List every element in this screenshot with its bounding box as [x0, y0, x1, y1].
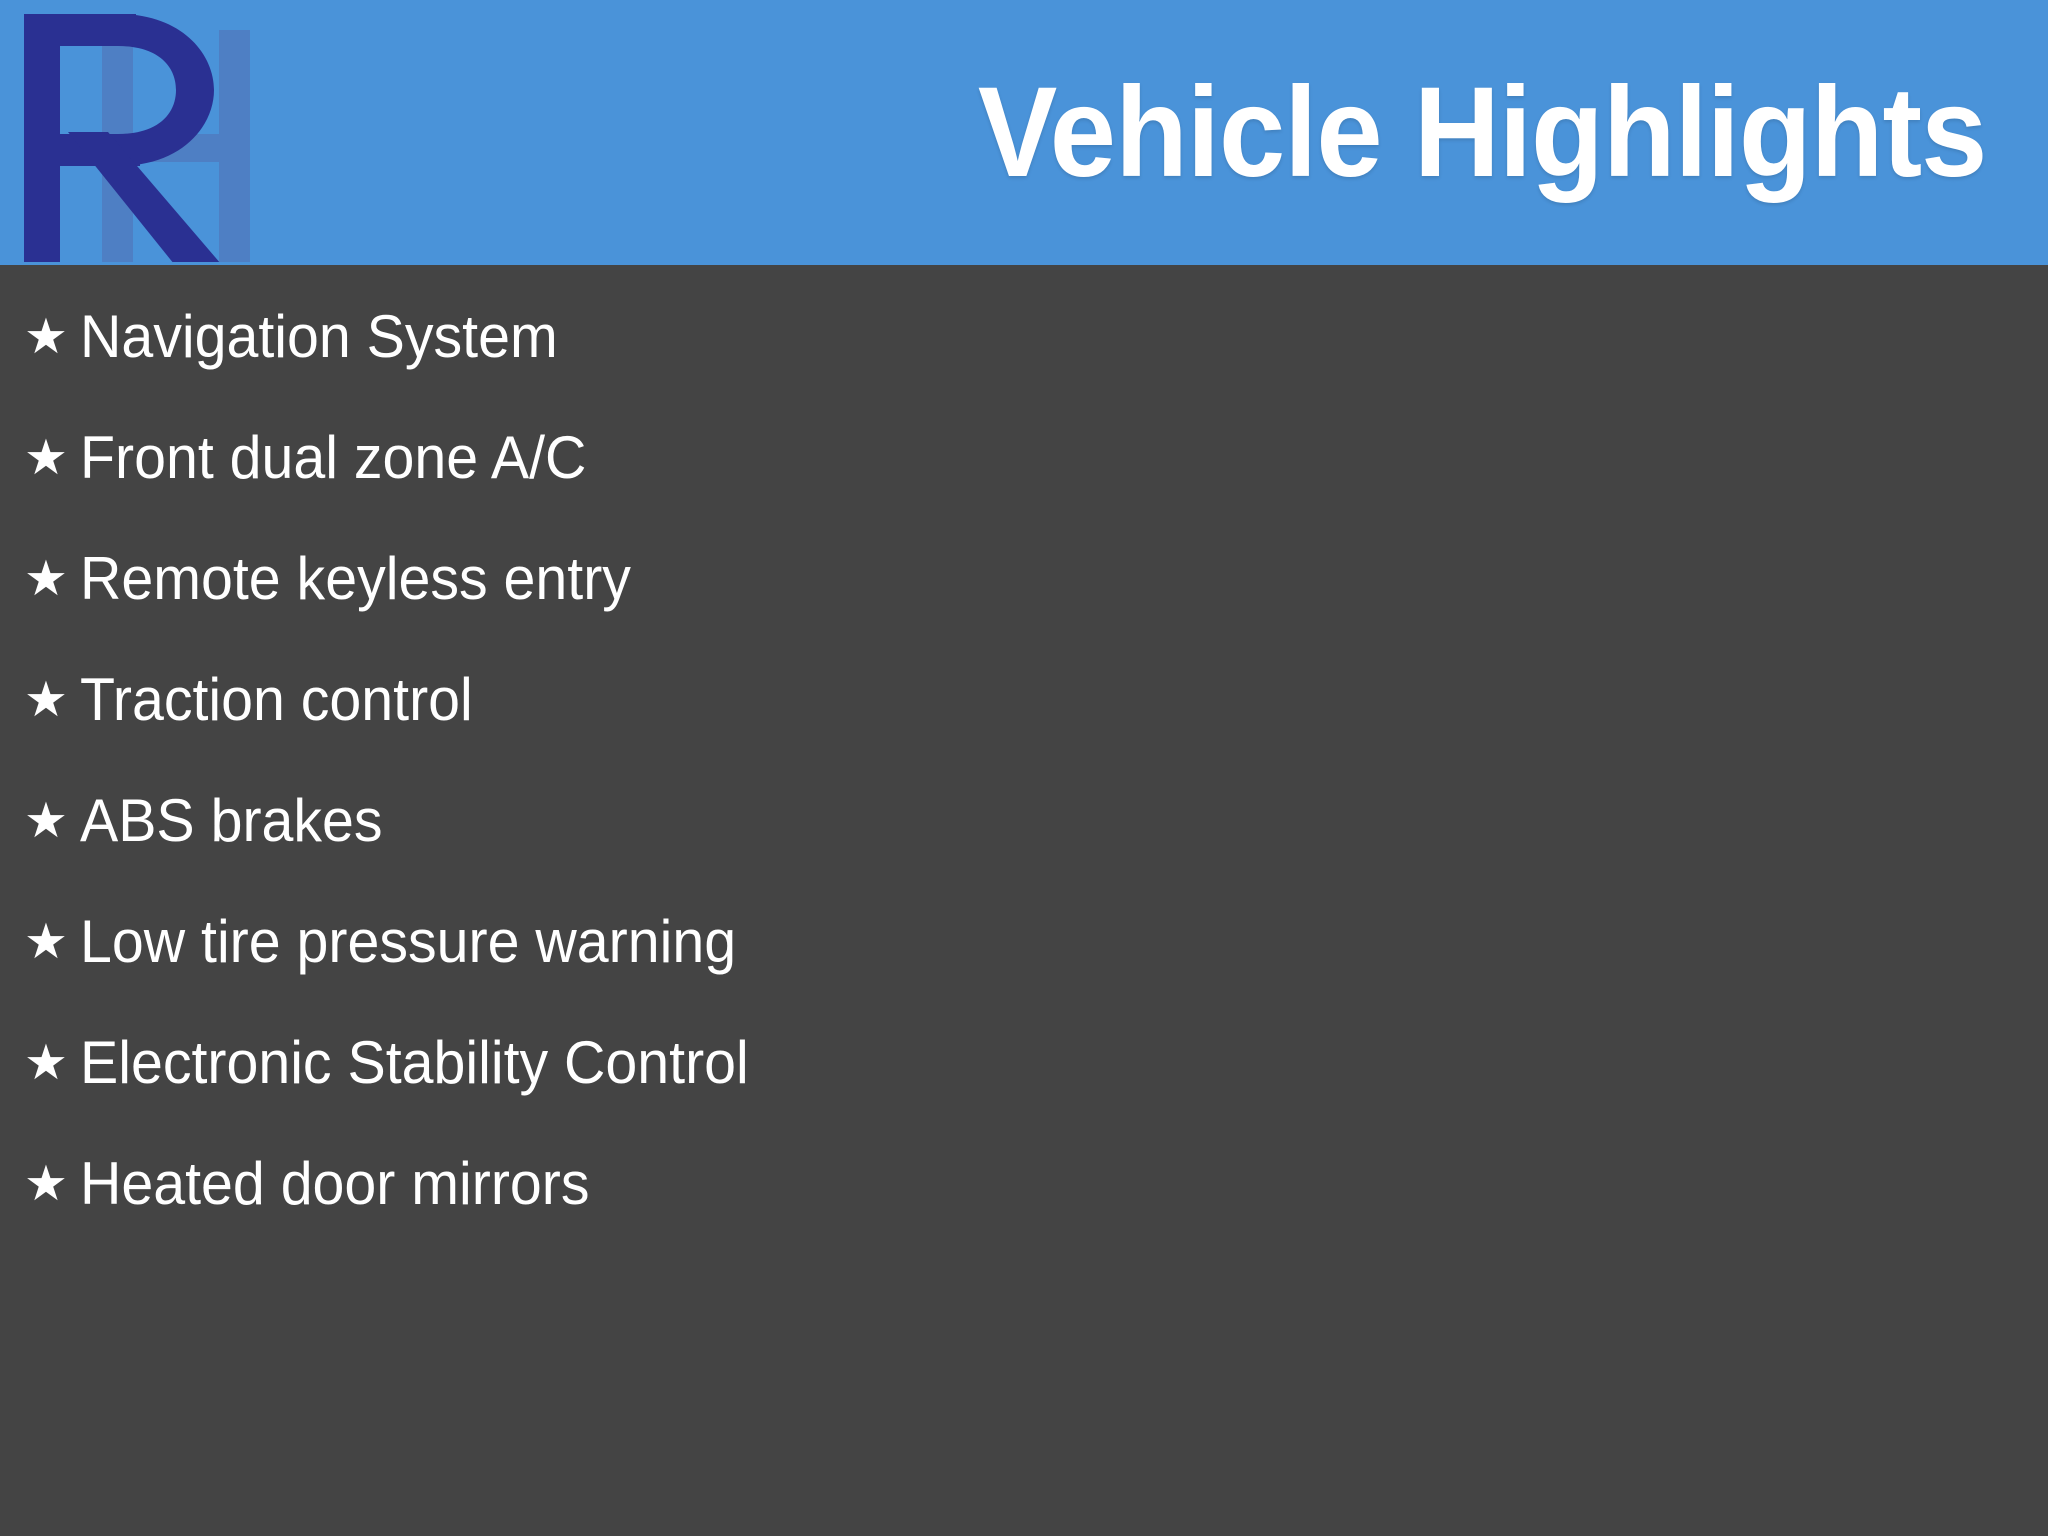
- list-item: ★ Heated door mirrors: [24, 1154, 2048, 1275]
- star-icon: ★: [24, 797, 80, 846]
- highlights-content: ★ Navigation System ★ Front dual zone A/…: [0, 265, 2048, 1536]
- list-item-label: Heated door mirrors: [80, 1154, 590, 1214]
- rh-monogram-logo: [6, 2, 256, 262]
- page-header: Vehicle Highlights: [0, 0, 2048, 265]
- list-item: ★ Front dual zone A/C: [24, 428, 2048, 549]
- list-item: ★ Low tire pressure warning: [24, 912, 2048, 1033]
- star-icon: ★: [24, 434, 80, 483]
- rh-logo-svg: [6, 2, 256, 262]
- list-item-label: ABS brakes: [80, 791, 383, 851]
- star-icon: ★: [24, 1039, 80, 1088]
- list-item-label: Low tire pressure warning: [80, 912, 736, 972]
- list-item: ★ Remote keyless entry: [24, 549, 2048, 670]
- list-item-label: Electronic Stability Control: [80, 1033, 749, 1093]
- list-item: ★ Navigation System: [24, 307, 2048, 428]
- page-title: Vehicle Highlights: [902, 69, 1986, 197]
- list-item-label: Traction control: [80, 670, 473, 730]
- list-item: ★ ABS brakes: [24, 791, 2048, 912]
- star-icon: ★: [24, 1160, 80, 1209]
- list-item: ★ Electronic Stability Control: [24, 1033, 2048, 1154]
- star-icon: ★: [24, 676, 80, 725]
- star-icon: ★: [24, 555, 80, 604]
- page-title-text: Vehicle Highlights: [977, 69, 1986, 197]
- list-item-label: Remote keyless entry: [80, 549, 631, 609]
- list-item: ★ Traction control: [24, 670, 2048, 791]
- vehicle-highlights-list: ★ Navigation System ★ Front dual zone A/…: [24, 307, 2048, 1275]
- star-icon: ★: [24, 918, 80, 967]
- star-icon: ★: [24, 313, 80, 362]
- list-item-label: Front dual zone A/C: [80, 428, 586, 488]
- list-item-label: Navigation System: [80, 307, 558, 367]
